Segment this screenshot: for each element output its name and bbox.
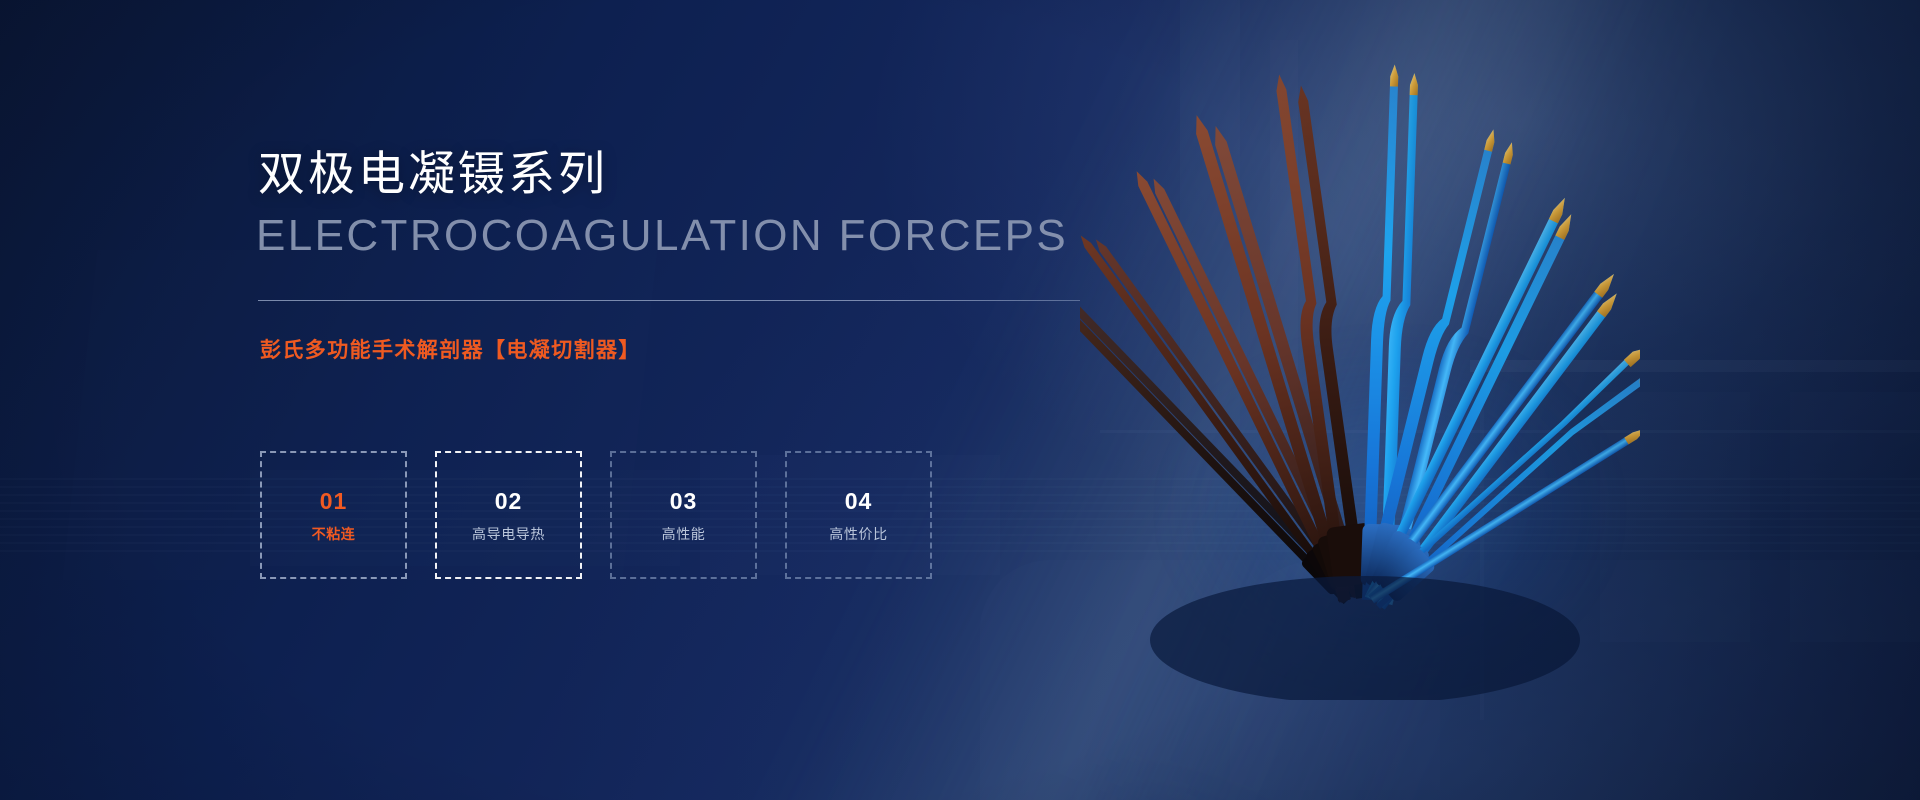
- page-title: 双极电凝镊系列: [258, 146, 608, 201]
- forceps-fan-icon: [1080, 40, 1640, 700]
- feature-box-02[interactable]: 02 高导电导热: [435, 451, 582, 579]
- feature-label: 高性价比: [829, 527, 887, 541]
- product-banner: 双极电凝镊系列 ELECTROCOAGULATION FORCEPS 彭氏多功能…: [0, 0, 1920, 800]
- product-tagline: 彭氏多功能手术解剖器【电凝切割器】: [260, 334, 641, 364]
- feature-label: 高性能: [662, 527, 706, 541]
- feature-number: 04: [845, 490, 873, 513]
- feature-number: 01: [320, 490, 348, 513]
- copy-block: 双极电凝镊系列 ELECTROCOAGULATION FORCEPS 彭氏多功能…: [258, 0, 1158, 800]
- feature-box-03[interactable]: 03 高性能: [610, 451, 757, 579]
- feature-box-04[interactable]: 04 高性价比: [785, 451, 932, 579]
- feature-number: 02: [495, 490, 523, 513]
- page-subtitle-en: ELECTROCOAGULATION FORCEPS: [256, 211, 1068, 262]
- feature-label: 不粘连: [312, 527, 356, 541]
- product-image: [1080, 40, 1640, 700]
- feature-box-01[interactable]: 01 不粘连: [260, 451, 407, 579]
- divider: [258, 300, 1080, 301]
- feature-list: 01 不粘连 02 高导电导热 03 高性能 04 高性价比: [260, 451, 932, 579]
- feature-number: 03: [670, 490, 698, 513]
- feature-label: 高导电导热: [472, 527, 545, 541]
